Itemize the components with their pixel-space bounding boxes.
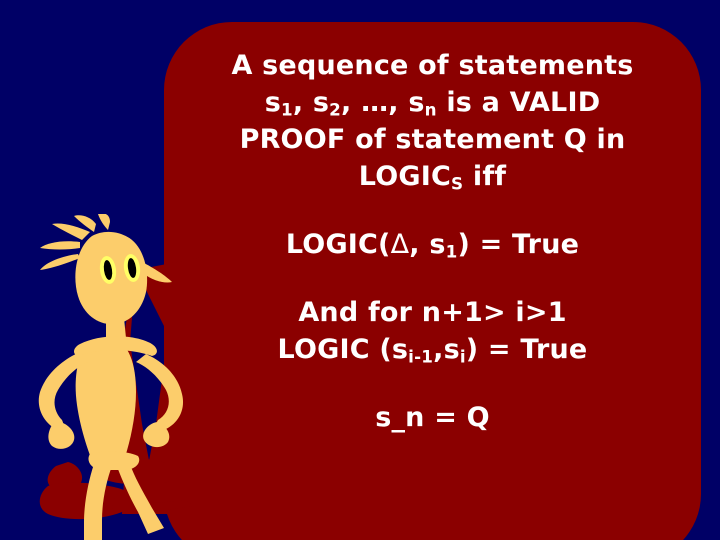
text-line-line-1: A sequence of statements xyxy=(231,47,633,84)
text-run: s xyxy=(265,87,281,118)
subscript: 1 xyxy=(281,100,293,120)
subscript: n xyxy=(425,100,437,120)
text-run: A sequence of statements xyxy=(231,50,633,81)
text-run: , …, s xyxy=(341,87,425,118)
text-line-line-4: LOGICS iff xyxy=(359,158,506,195)
text-line-line-5: LOGIC(Δ, s1) = True xyxy=(286,226,579,263)
subscript: 2 xyxy=(329,100,341,120)
text-run: ) = True xyxy=(466,334,588,365)
text-run: PROOF of statement Q in xyxy=(240,124,626,155)
text-line-line-6: And for n+1> i>1 xyxy=(298,294,566,331)
subscript: 1 xyxy=(446,242,458,262)
text-line-line-7: LOGIC (si-1,si) = True xyxy=(278,331,588,368)
proof-definition-text: A sequence of statementss1, s2, …, sn is… xyxy=(164,22,701,540)
text-run: LOGIC xyxy=(359,161,451,192)
text-run: , s xyxy=(293,87,329,118)
text-run: And for n+1> i>1 xyxy=(298,297,566,328)
text-run: LOGIC (s xyxy=(278,334,409,365)
text-line-line-3: PROOF of statement Q in xyxy=(240,121,626,158)
subscript: S xyxy=(451,174,463,194)
text-run: , s xyxy=(409,229,445,260)
text-run: ) = True xyxy=(457,229,579,260)
text-run: iff xyxy=(463,161,506,192)
text-line-line-2: s1, s2, …, sn is a VALID xyxy=(265,84,601,121)
text-line-line-8: s_n = Q xyxy=(375,399,490,436)
text-run: is a VALID xyxy=(437,87,601,118)
subscript: i-1 xyxy=(408,347,433,367)
delta-symbol: Δ xyxy=(391,229,410,260)
slide-canvas: A sequence of statementss1, s2, …, sn is… xyxy=(0,0,720,540)
text-run: s_n = Q xyxy=(375,402,490,433)
text-run: ,s xyxy=(433,334,460,365)
text-run: LOGIC( xyxy=(286,229,391,260)
